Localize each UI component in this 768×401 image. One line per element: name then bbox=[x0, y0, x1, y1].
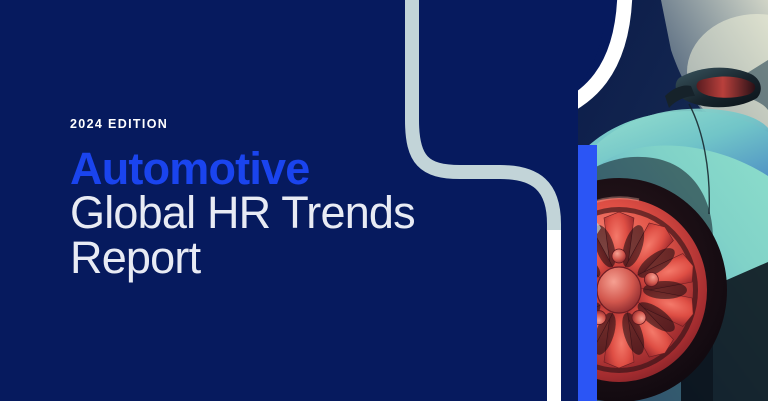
blue-vertical-bar bbox=[578, 145, 597, 401]
cover-text-block: 2024 EDITION Automotive Global HR Trends… bbox=[70, 118, 490, 280]
navy-gap-divider bbox=[561, 0, 578, 401]
report-cover: 2024 EDITION Automotive Global HR Trends… bbox=[0, 0, 768, 401]
page-title-line-2: Global HR Trends bbox=[70, 191, 490, 236]
page-title-accent: Automotive bbox=[70, 147, 490, 192]
edition-eyebrow: 2024 EDITION bbox=[70, 118, 490, 131]
white-vertical-stripe bbox=[547, 230, 561, 401]
page-title-line-3: Report bbox=[70, 236, 490, 281]
